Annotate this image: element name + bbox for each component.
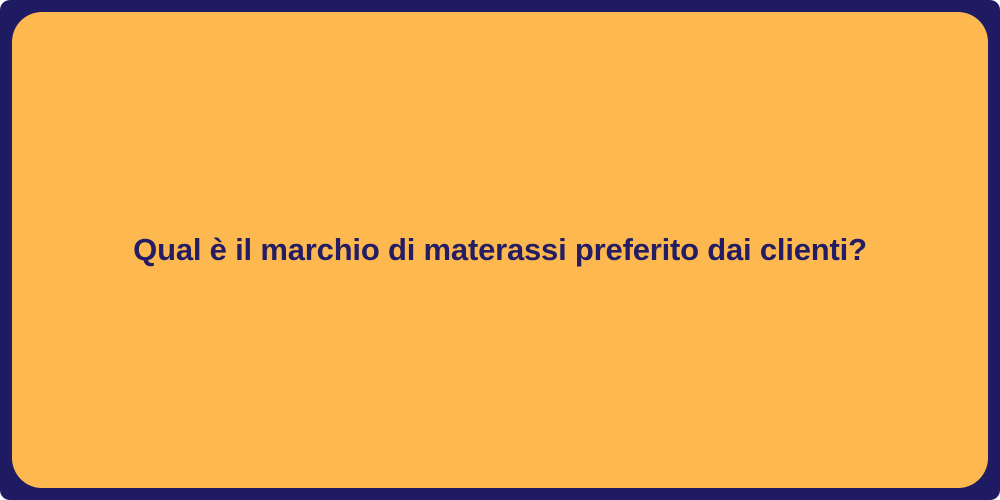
question-text: Qual è il marchio di materassi preferito…: [133, 230, 867, 270]
question-card-panel: Qual è il marchio di materassi preferito…: [12, 12, 988, 488]
question-card-frame: Qual è il marchio di materassi preferito…: [0, 0, 1000, 500]
